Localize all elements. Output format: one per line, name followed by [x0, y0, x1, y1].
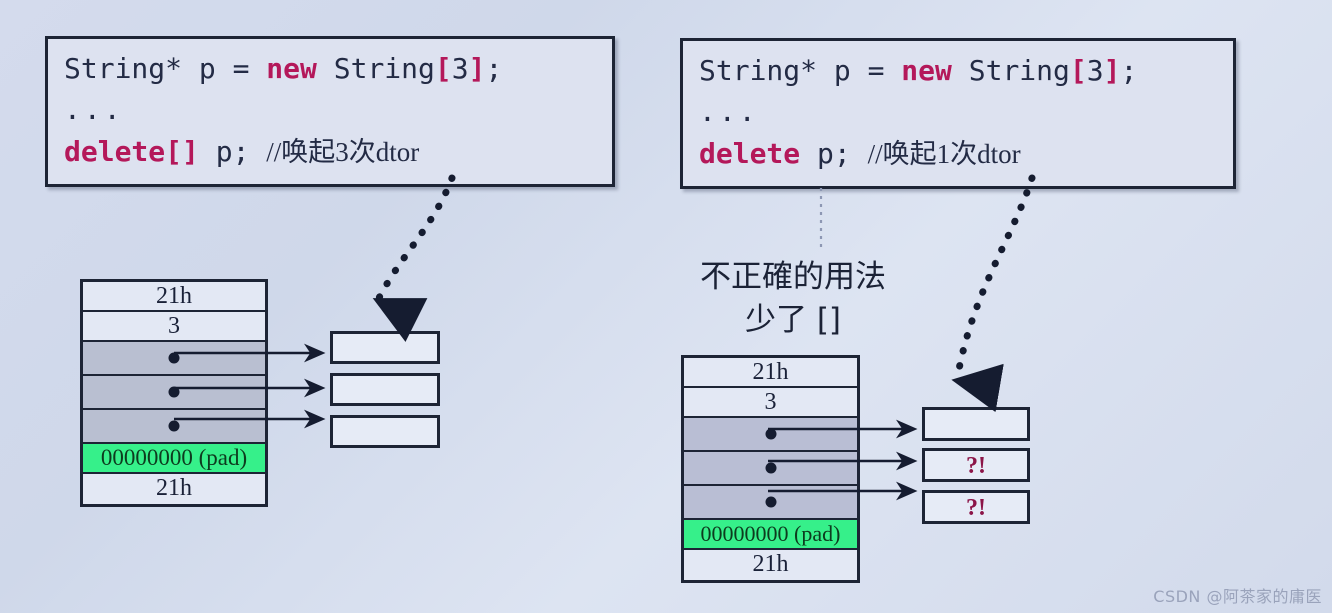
memory-row-pointer — [83, 342, 265, 376]
keyword-new: new — [266, 52, 317, 85]
keyword-delete-array: delete[] — [64, 135, 199, 168]
memory-row-cookie-head: 21h — [684, 358, 857, 388]
keyword-new: new — [901, 54, 952, 87]
bracket-close: ] — [1104, 54, 1121, 87]
pointer-dot-icon — [169, 387, 180, 398]
target-object-box — [330, 415, 440, 448]
memory-row-pointer — [684, 452, 857, 486]
target-object-box-leaked: ?! — [922, 448, 1030, 482]
memory-row-count: 3 — [83, 312, 265, 342]
memory-row-pad: 00000000 (pad) — [684, 520, 857, 550]
memory-row-count: 3 — [684, 388, 857, 418]
ellipsis: ... — [699, 95, 759, 128]
memory-block-right: 21h 3 00000000 (pad) 21h — [681, 355, 860, 583]
target-object-box — [330, 331, 440, 364]
dotted-arrow-left — [378, 178, 452, 300]
code-line: delete[] p; //唤起3次dtor — [64, 131, 596, 173]
semicolon: ; — [485, 52, 502, 85]
memory-row-pad: 00000000 (pad) — [83, 444, 265, 474]
code-text: String* p = — [699, 54, 901, 87]
code-text: p; — [800, 137, 867, 170]
array-size: 3 — [452, 52, 469, 85]
code-comment: //唤起3次dtor — [266, 137, 419, 167]
annotation-line-2: 少了 [] — [668, 299, 918, 342]
code-line: String* p = new String[3]; — [699, 50, 1217, 91]
code-text: String — [317, 52, 435, 85]
code-line: delete p; //唤起1次dtor — [699, 133, 1217, 175]
pointer-dot-icon — [765, 497, 776, 508]
pointer-dot-icon — [169, 421, 180, 432]
semicolon: ; — [1120, 54, 1137, 87]
watermark: CSDN @阿茶家的庸医 — [1153, 583, 1322, 607]
code-comment: //唤起1次dtor — [868, 139, 1021, 169]
memory-row-pointer — [83, 376, 265, 410]
pointer-dot-icon — [169, 353, 180, 364]
pointer-dot-icon — [765, 463, 776, 474]
code-line: String* p = new String[3]; — [64, 48, 596, 89]
bracket-open: [ — [435, 52, 452, 85]
code-text: String — [952, 54, 1070, 87]
slide-canvas: String* p = new String[3]; ... delete[] … — [0, 0, 1332, 613]
keyword-delete: delete — [699, 137, 800, 170]
memory-row-cookie-tail: 21h — [83, 474, 265, 504]
ellipsis: ... — [64, 93, 124, 126]
memory-block-left: 21h 3 00000000 (pad) 21h — [80, 279, 268, 507]
target-object-box — [922, 407, 1030, 441]
memory-row-pointer — [684, 418, 857, 452]
memory-row-cookie-head: 21h — [83, 282, 265, 312]
code-text: String* p = — [64, 52, 266, 85]
array-size: 3 — [1087, 54, 1104, 87]
bracket-open: [ — [1070, 54, 1087, 87]
dotted-arrow-right — [957, 178, 1032, 380]
target-object-box — [330, 373, 440, 406]
target-object-box-leaked: ?! — [922, 490, 1030, 524]
pointer-dot-icon — [765, 429, 776, 440]
code-box-incorrect: String* p = new String[3]; ... delete p;… — [680, 38, 1236, 189]
bracket-close: ] — [469, 52, 486, 85]
code-line: ... — [64, 89, 596, 130]
memory-row-pointer — [684, 486, 857, 520]
annotation-line-1: 不正確的用法 — [668, 256, 918, 299]
code-line: ... — [699, 91, 1217, 132]
annotation-incorrect-usage: 不正確的用法 少了 [] — [668, 256, 918, 342]
memory-row-cookie-tail: 21h — [684, 550, 857, 580]
code-text: p; — [199, 135, 266, 168]
memory-row-pointer — [83, 410, 265, 444]
code-box-correct: String* p = new String[3]; ... delete[] … — [45, 36, 615, 187]
